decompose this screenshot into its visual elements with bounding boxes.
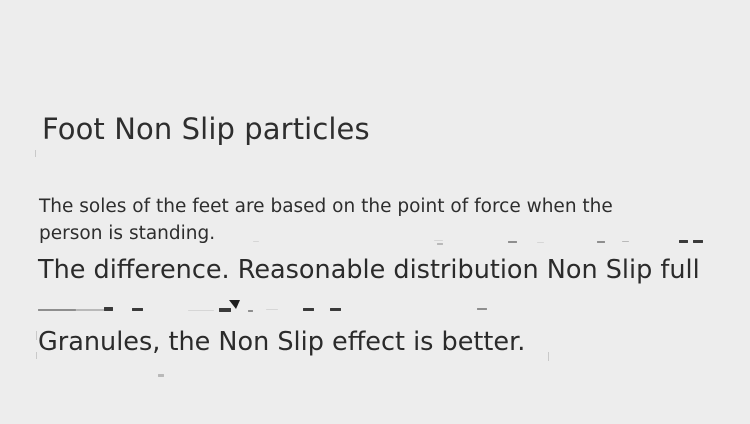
artifact-mark	[104, 307, 113, 311]
feature-line-1: The difference. Reasonable distribution …	[38, 253, 700, 287]
artifact-mark	[219, 308, 231, 312]
artifact-mark	[35, 150, 36, 157]
product-description-image: Foot Non Slip particles The soles of the…	[0, 0, 750, 424]
artifact-mark	[693, 240, 703, 243]
artifact-mark	[679, 240, 688, 243]
artifact-mark	[548, 352, 549, 361]
description-paragraph: The soles of the feet are based on the p…	[39, 193, 679, 247]
artifact-mark	[36, 331, 37, 340]
artifact-mark	[36, 352, 37, 359]
artifact-mark	[229, 300, 240, 309]
artifact-mark	[132, 308, 143, 311]
artifact-mark	[330, 308, 341, 311]
artifact-mark	[38, 309, 76, 311]
artifact-mark	[76, 309, 112, 311]
feature-line-2: Granules, the Non Slip effect is better.	[38, 325, 525, 359]
page-title: Foot Non Slip particles	[42, 111, 370, 147]
artifact-mark	[477, 308, 487, 310]
artifact-mark	[188, 310, 214, 311]
artifact-mark	[248, 310, 253, 312]
artifact-mark	[158, 374, 164, 377]
artifact-mark	[303, 308, 314, 311]
artifact-mark	[266, 309, 278, 310]
